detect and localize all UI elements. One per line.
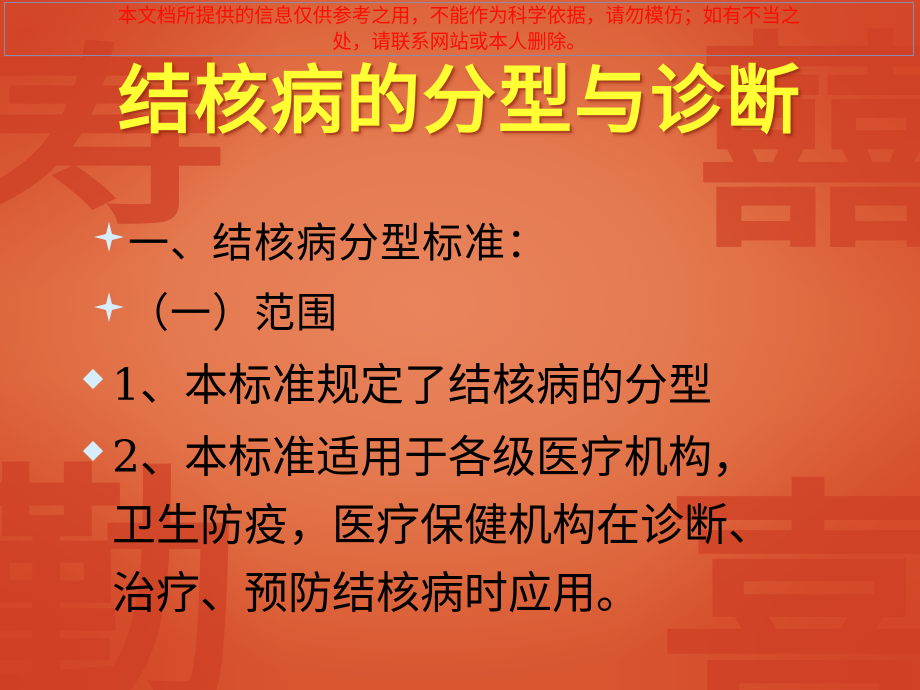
list-item-line-1: 2、本标准适用于各级医疗机构， [112, 424, 878, 492]
disclaimer-line-2: 处，请联系网站或本人删除。 [9, 30, 909, 56]
list-item-label: 一、结核病分型标准： [128, 212, 878, 274]
star-bullet-icon [94, 222, 128, 252]
list-item-label: 2、本标准适用于各级医疗机构， 卫生防疫，医疗保健机构在诊断、 治疗、预防结核病… [112, 424, 878, 628]
page-title: 结核病的分型与诊断 [0, 57, 920, 145]
list-item-line-3: 治疗、预防结核病时应用。 [112, 560, 878, 628]
list-item: （一）范围 [78, 282, 878, 344]
star-bullet-icon [94, 292, 128, 322]
list-item-label: 1、本标准规定了结核病的分型 [112, 352, 878, 420]
list-item: 2、本标准适用于各级医疗机构， 卫生防疫，医疗保健机构在诊断、 治疗、预防结核病… [78, 424, 878, 628]
presentation-slide: 寿 囍 勤 喜 本文档所提供的信息仅供参考之用，不能作为科学依据，请勿模仿；如有… [0, 0, 920, 690]
bullet-list: 一、结核病分型标准： （一）范围 1、本标准规定了结核病的分型 [78, 212, 878, 632]
list-item-label: （一）范围 [128, 282, 878, 344]
list-item: 1、本标准规定了结核病的分型 [78, 352, 878, 420]
disclaimer-banner: 本文档所提供的信息仅供参考之用，不能作为科学依据，请勿模仿；如有不当之 处，请联… [4, 2, 914, 56]
diamond-bullet-icon [82, 368, 112, 390]
disclaimer-line-1: 本文档所提供的信息仅供参考之用，不能作为科学依据，请勿模仿；如有不当之 [118, 6, 801, 27]
diamond-bullet-icon [82, 440, 112, 462]
list-item: 一、结核病分型标准： [78, 212, 878, 274]
list-item-line-2: 卫生防疫，医疗保健机构在诊断、 [112, 492, 878, 560]
